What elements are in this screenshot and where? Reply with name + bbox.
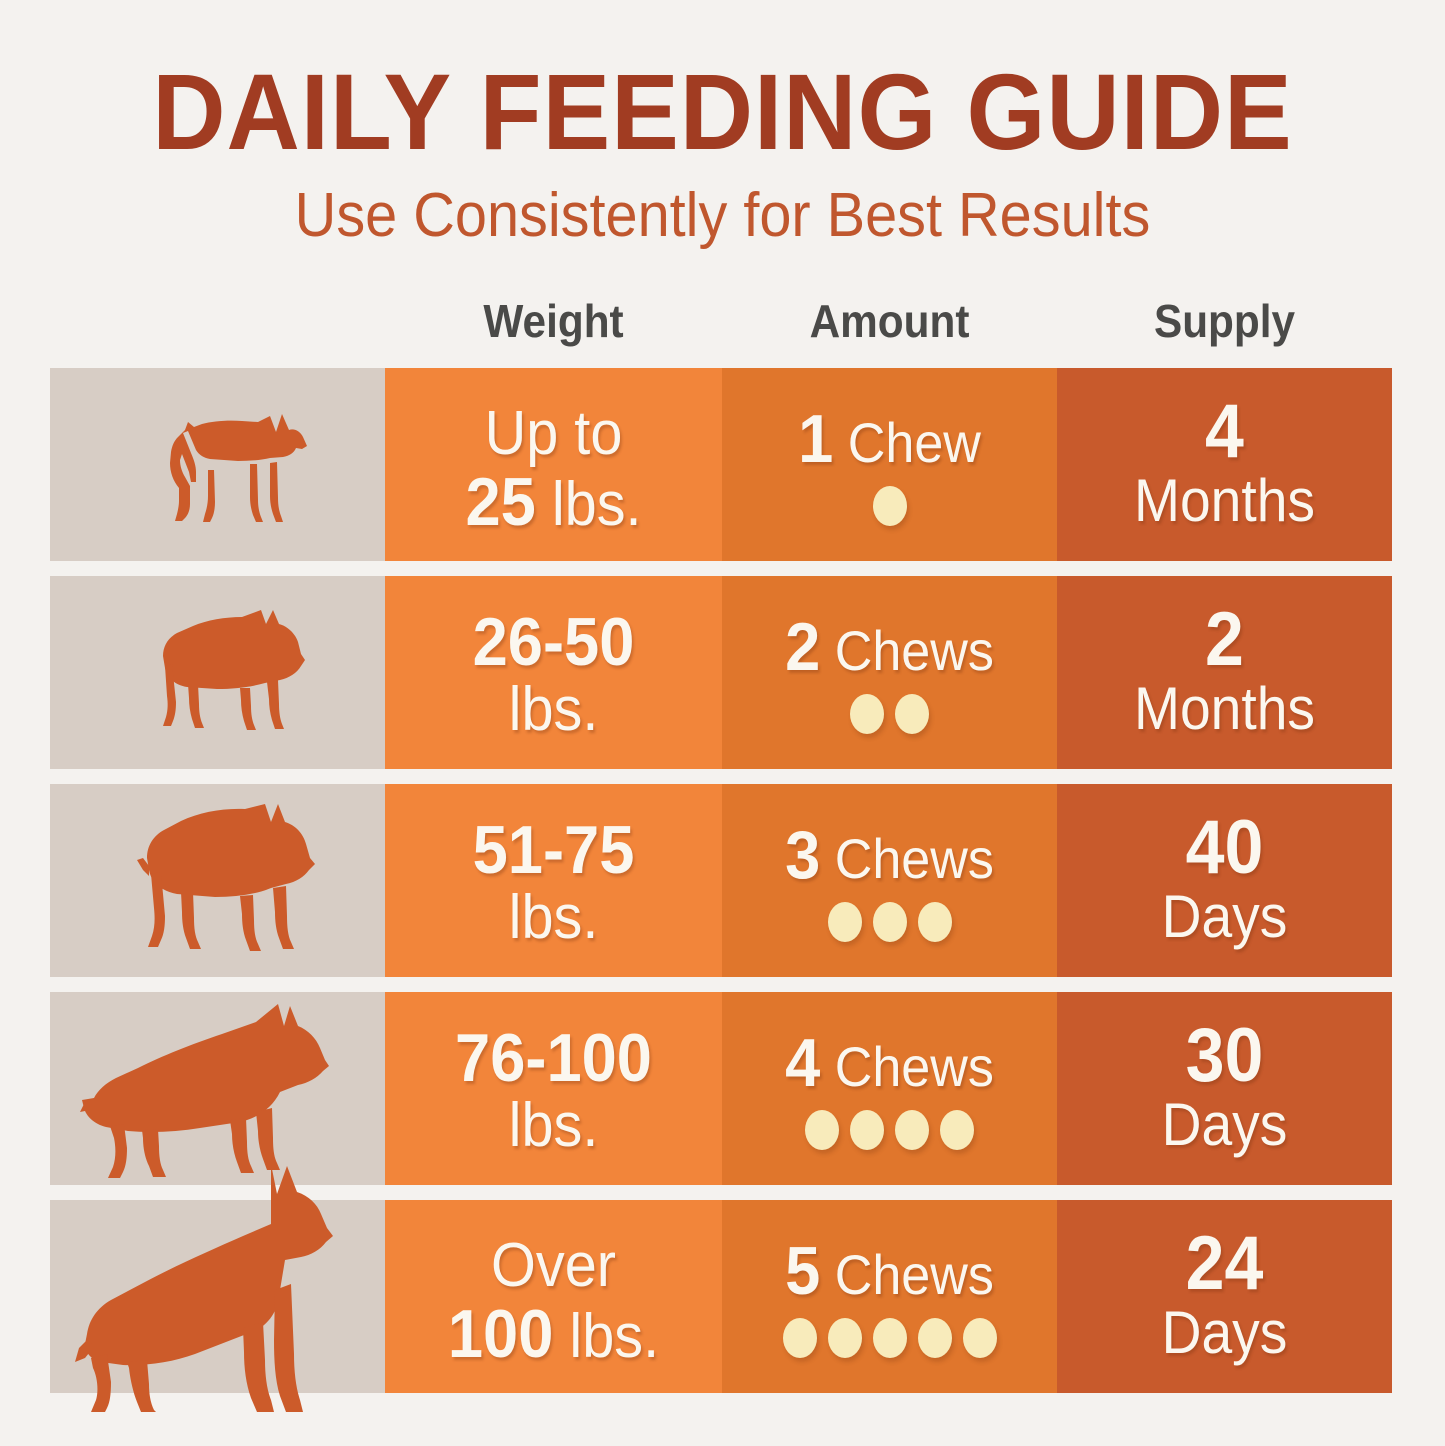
supply-cell: 24 Days — [1057, 1200, 1392, 1393]
chew-pills — [722, 486, 1057, 526]
weight-line-2: lbs. — [397, 677, 710, 743]
weight-line-2: 25 lbs. — [397, 469, 710, 538]
weight-cell: Up to 25 lbs. — [385, 368, 722, 561]
feeding-guide-infographic: DAILY FEEDING GUIDE Use Consistently for… — [0, 0, 1445, 1446]
chew-pills — [722, 1318, 1057, 1358]
amount-number: 1 — [798, 401, 833, 477]
dog-cell — [50, 576, 385, 769]
chew-pill — [963, 1318, 997, 1358]
amount-word: Chews — [835, 1035, 994, 1098]
chew-pill — [895, 694, 929, 734]
supply-number: 4 — [1070, 392, 1378, 472]
dog-cell — [50, 1200, 385, 1393]
weight-cell: 51-75 lbs. — [385, 784, 722, 977]
amount-cell: 5 Chews — [722, 1200, 1057, 1393]
amount-label: 2 Chews — [734, 612, 1046, 686]
amount-number: 3 — [785, 817, 820, 893]
weight-line-2: lbs. — [397, 1093, 710, 1159]
chihuahua-silhouette — [50, 368, 385, 561]
boxer-silhouette — [50, 784, 385, 977]
amount-cell: 3 Chews — [722, 784, 1057, 977]
supply-cell: 30 Days — [1057, 992, 1392, 1185]
chew-pills — [722, 1110, 1057, 1150]
chew-pills — [722, 694, 1057, 734]
weight-line-1: 51-75 — [397, 817, 710, 883]
supply-unit: Days — [1070, 1093, 1378, 1157]
supply-number: 30 — [1070, 1016, 1378, 1096]
amount-word: Chews — [835, 827, 994, 890]
weight-cell: 26-50 lbs. — [385, 576, 722, 769]
amount-word: Chews — [835, 1243, 994, 1306]
amount-label: 5 Chews — [734, 1236, 1046, 1310]
table-row: Over 100 lbs. 5 Chews 24 Days — [50, 1200, 1392, 1393]
weight-line-2: 100 lbs. — [397, 1301, 710, 1370]
dog-cell — [50, 992, 385, 1185]
amount-number: 2 — [785, 609, 820, 685]
chew-pills — [722, 902, 1057, 942]
amount-cell: 2 Chews — [722, 576, 1057, 769]
amount-cell: 1 Chew — [722, 368, 1057, 561]
supply-unit: Months — [1070, 677, 1378, 741]
great-dane-silhouette — [50, 1200, 385, 1393]
feeding-table: Up to 25 lbs. 1 Chew 4 Months — [50, 368, 1392, 1393]
chew-pill — [850, 1110, 884, 1150]
supply-number: 40 — [1070, 808, 1378, 888]
amount-label: 4 Chews — [734, 1028, 1046, 1102]
amount-number: 4 — [785, 1025, 820, 1101]
page-subtitle: Use Consistently for Best Results — [51, 182, 1395, 250]
dog-cell — [50, 784, 385, 977]
chew-pill — [918, 902, 952, 942]
chew-pill — [783, 1318, 817, 1358]
weight-line-1: Up to — [397, 401, 710, 467]
table-row: 76-100 lbs. 4 Chews 30 Days — [50, 992, 1392, 1185]
column-header-supply: Supply — [1070, 296, 1378, 346]
table-row: Up to 25 lbs. 1 Chew 4 Months — [50, 368, 1392, 561]
weight-line-1: 26-50 — [397, 609, 710, 675]
chew-pill — [873, 486, 907, 526]
weight-line-1: 76-100 — [397, 1025, 710, 1091]
chew-pill — [828, 1318, 862, 1358]
weight-cell: 76-100 lbs. — [385, 992, 722, 1185]
chew-pill — [873, 902, 907, 942]
amount-label: 3 Chews — [734, 820, 1046, 894]
weight-unit: lbs. — [552, 470, 642, 539]
supply-cell: 2 Months — [1057, 576, 1392, 769]
column-header-amount: Amount — [735, 296, 1043, 346]
chew-pill — [940, 1110, 974, 1150]
weight-value: 25 — [465, 464, 535, 540]
amount-word: Chews — [835, 619, 994, 682]
amount-label: 1 Chew — [734, 404, 1046, 478]
column-header-weight: Weight — [398, 296, 708, 346]
supply-cell: 4 Months — [1057, 368, 1392, 561]
supply-number: 2 — [1070, 600, 1378, 680]
french-bulldog-silhouette — [50, 576, 385, 769]
weight-value: 100 — [448, 1296, 554, 1372]
table-row: 26-50 lbs. 2 Chews 2 Months — [50, 576, 1392, 769]
table-row: 51-75 lbs. 3 Chews 40 Days — [50, 784, 1392, 977]
supply-number: 24 — [1070, 1224, 1378, 1304]
weight-unit: lbs. — [569, 1302, 659, 1371]
supply-unit: Days — [1070, 1301, 1378, 1365]
chew-pill — [828, 902, 862, 942]
weight-line-1: Over — [397, 1233, 710, 1299]
amount-word: Chew — [848, 411, 981, 474]
chew-pill — [918, 1318, 952, 1358]
chew-pill — [805, 1110, 839, 1150]
chew-pill — [850, 694, 884, 734]
dog-cell — [50, 368, 385, 561]
chew-pill — [895, 1110, 929, 1150]
german-shepherd-silhouette — [50, 992, 385, 1185]
amount-cell: 4 Chews — [722, 992, 1057, 1185]
supply-unit: Days — [1070, 885, 1378, 949]
amount-number: 5 — [785, 1233, 820, 1309]
supply-cell: 40 Days — [1057, 784, 1392, 977]
weight-cell: Over 100 lbs. — [385, 1200, 722, 1393]
chew-pill — [873, 1318, 907, 1358]
weight-line-2: lbs. — [397, 885, 710, 951]
supply-unit: Months — [1070, 469, 1378, 533]
page-title: DAILY FEEDING GUIDE — [43, 58, 1401, 166]
